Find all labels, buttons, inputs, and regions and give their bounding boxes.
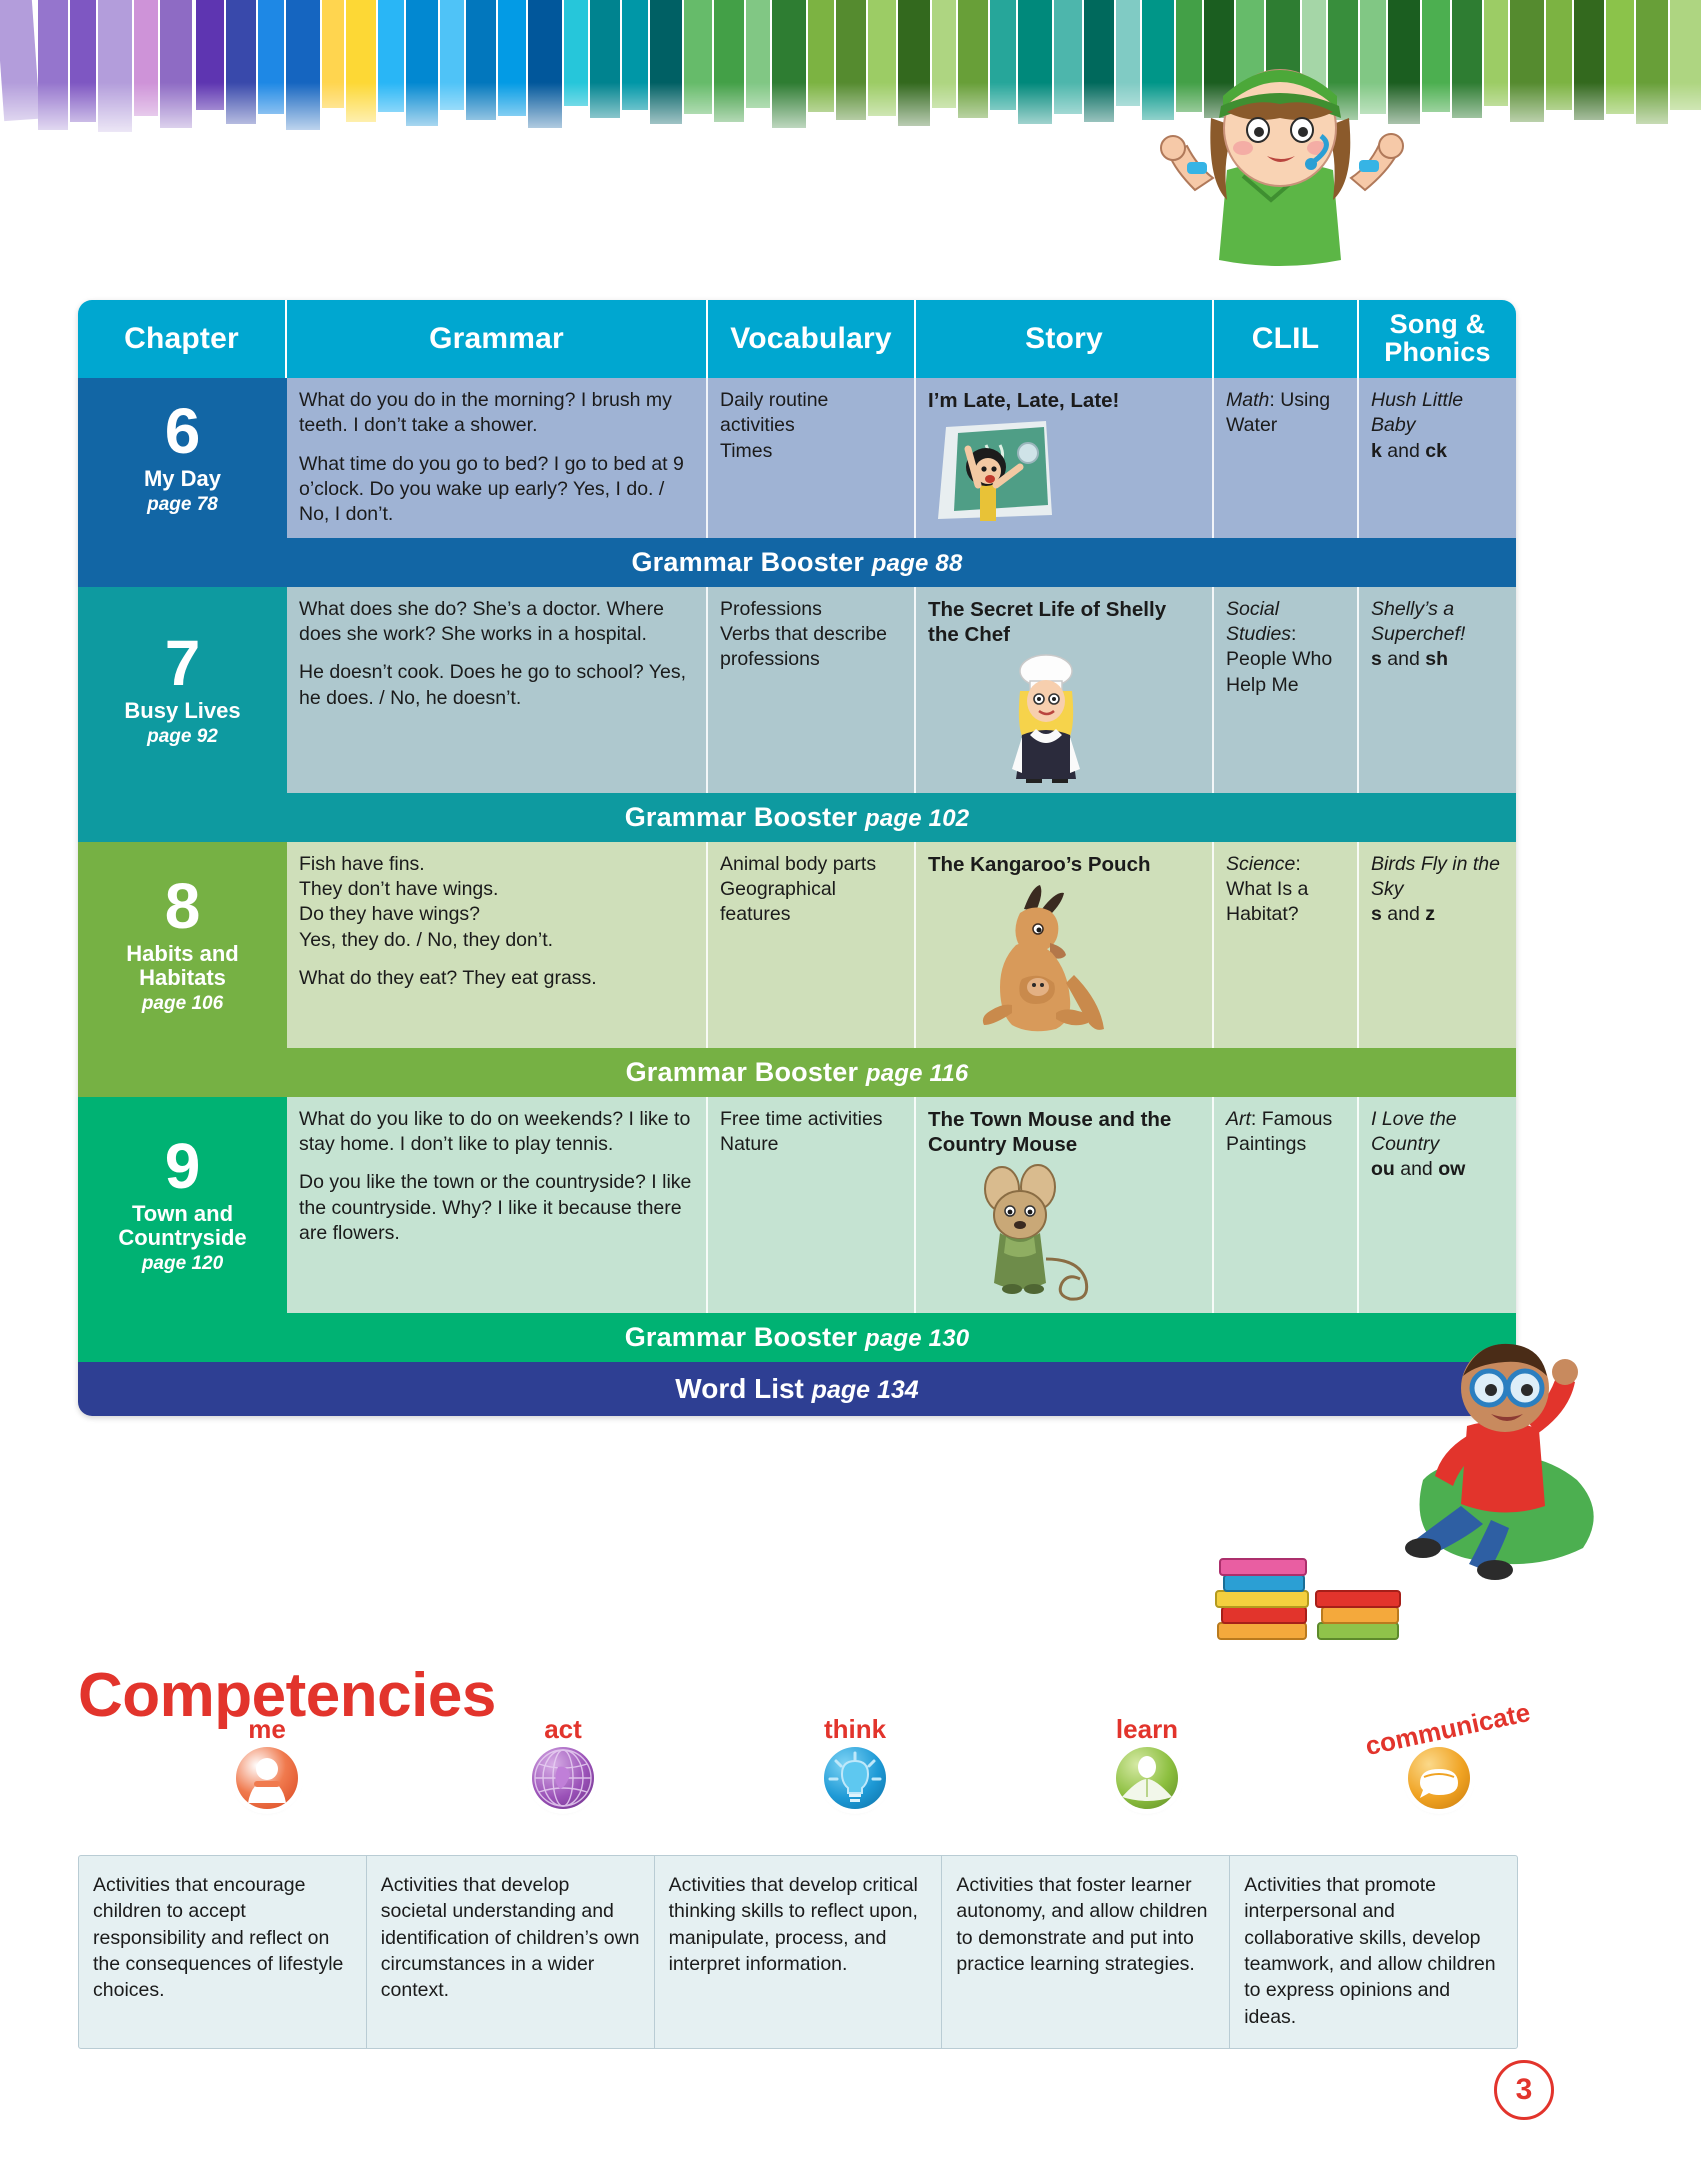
competency-description-boxes: Activities that encourage children to ac… — [78, 1855, 1518, 2049]
word-list-page: page 134 — [812, 1376, 919, 1404]
phonics-line: k and ck — [1371, 439, 1504, 464]
speech-balloon-icon — [1408, 1747, 1470, 1809]
vocabulary-item: Nature — [720, 1132, 902, 1157]
chapter-page: page 120 — [142, 1253, 223, 1275]
chapter-name: Habits and Habitats — [84, 942, 281, 990]
clil-subject: Math — [1226, 389, 1269, 411]
phonics-and: and — [1382, 440, 1425, 462]
story-title: The Town Mouse and the Country Mouse — [928, 1107, 1200, 1157]
globe-icon — [532, 1747, 594, 1809]
phonics-and: and — [1395, 1158, 1438, 1180]
chapter-7-song-phonics: Shelly’s a Superchef! s and sh — [1359, 587, 1516, 793]
phonics-a: ou — [1371, 1158, 1395, 1180]
chapter-8-clil: Science: What Is a Habitat? — [1214, 842, 1359, 1048]
chapter-9-label: 9 Town and Countryside page 120 — [78, 1097, 287, 1313]
chapter-7-story: The Secret Life of Shelly the Chef — [916, 587, 1214, 793]
vocabulary-item: Verbs that describe professions — [720, 622, 902, 673]
book-stack-illustration — [1210, 1545, 1410, 1655]
chapter-6-clil: Math: Using Water — [1214, 378, 1359, 538]
chapter-7-vocabulary: Professions Verbs that describe professi… — [708, 587, 916, 793]
column-header-clil: CLIL — [1214, 300, 1359, 378]
chef-woman-icon — [986, 653, 1106, 783]
competency-label: learn — [1072, 1714, 1222, 1745]
chapter-8-grammar: Fish have fins. They don’t have wings. D… — [287, 842, 708, 1048]
table-header-row: Chapter Grammar Vocabulary Story CLIL So… — [78, 300, 1516, 378]
person-circle-icon — [236, 1747, 298, 1809]
clil-subject: Social Studies — [1226, 598, 1291, 645]
song-title: Birds Fly in the Sky — [1371, 852, 1504, 903]
grammar-paragraph-2: He doesn’t cook. Does he go to school? Y… — [299, 660, 694, 711]
phonics-a: s — [1371, 648, 1382, 670]
page-number: 3 — [1494, 2060, 1554, 2120]
chapter-7-grammar: What does she do? She’s a doctor. Where … — [287, 587, 708, 793]
kangaroo-with-joey-icon — [946, 883, 1131, 1038]
booster-label: Grammar Booster — [626, 1057, 859, 1087]
chapter-7-clil: Social Studies: People Who Help Me — [1214, 587, 1359, 793]
clil-subject: Science — [1226, 853, 1295, 875]
chapter-6-label: 6 My Day page 78 — [78, 378, 287, 538]
chapter-9-clil: Art: Famous Paintings — [1214, 1097, 1359, 1313]
competencies-badges: me act thi — [120, 1700, 1480, 1830]
column-header-vocabulary: Vocabulary — [708, 300, 916, 378]
grammar-booster-bar-9: Grammar Booster page 130 — [78, 1313, 1516, 1362]
shelf-fade — [0, 0, 1701, 150]
chapter-8-story: The Kangaroo’s Pouch — [916, 842, 1214, 1048]
competency-label: think — [780, 1714, 930, 1745]
grammar-line: They don’t have wings. — [299, 878, 498, 900]
table-row-chapter-7: 7 Busy Lives page 92 What does she do? S… — [78, 587, 1516, 793]
competency-description-think: Activities that develop critical thinkin… — [655, 1856, 943, 2048]
song-title: I Love the Country — [1371, 1107, 1504, 1158]
grammar-booster-bar-6: Grammar Booster page 88 — [78, 538, 1516, 587]
column-header-song-phonics: Song & Phonics — [1359, 300, 1516, 378]
phonics-b: sh — [1425, 648, 1448, 670]
booster-page: page 102 — [865, 805, 969, 832]
phonics-line: s and sh — [1371, 647, 1504, 672]
competency-label: me — [192, 1714, 342, 1745]
grammar-line: Yes, they do. / No, they don’t. — [299, 929, 553, 951]
word-list-bar: Word List page 134 — [78, 1362, 1516, 1416]
chapter-page: page 106 — [142, 993, 223, 1015]
phonics-b: z — [1425, 903, 1435, 925]
vocabulary-item: Times — [720, 439, 902, 464]
chapter-9-story: The Town Mouse and the Country Mouse — [916, 1097, 1214, 1313]
chapter-6-grammar: What do you do in the morning? I brush m… — [287, 378, 708, 538]
clil-subject: Art — [1226, 1108, 1251, 1130]
competency-description-communicate: Activities that promote interpersonal an… — [1230, 1856, 1517, 2048]
phonics-a: s — [1371, 903, 1382, 925]
song-title: Hush Little Baby — [1371, 388, 1504, 439]
booster-label: Grammar Booster — [625, 1322, 858, 1352]
boy-at-blackboard-icon — [928, 419, 1058, 524]
competency-badge-act[interactable]: act — [488, 1714, 638, 1809]
competency-badge-learn[interactable]: learn — [1072, 1714, 1222, 1809]
lightbulb-icon — [824, 1747, 886, 1809]
booster-page: page 88 — [872, 550, 963, 577]
grammar-line: Fish have fins. — [299, 853, 425, 875]
competency-description-me: Activities that encourage children to ac… — [79, 1856, 367, 2048]
song-header-line1: Song & — [1384, 311, 1490, 339]
grammar-line: Do they have wings? — [299, 903, 480, 925]
grammar-paragraph-1: What does she do? She’s a doctor. Where … — [299, 597, 694, 648]
chapter-7-label: 7 Busy Lives page 92 — [78, 587, 287, 793]
vocabulary-item: Professions — [720, 597, 902, 622]
grammar-paragraph-1: What do you like to do on weekends? I li… — [299, 1107, 694, 1158]
chapter-6-song-phonics: Hush Little Baby k and ck — [1359, 378, 1516, 538]
vocabulary-item: Free time activities — [720, 1107, 902, 1132]
phonics-a: k — [1371, 440, 1382, 462]
chapter-9-grammar: What do you like to do on weekends? I li… — [287, 1097, 708, 1313]
table-row-chapter-6: 6 My Day page 78 What do you do in the m… — [78, 378, 1516, 538]
story-title: I’m Late, Late, Late! — [928, 388, 1200, 413]
competency-badge-me[interactable]: me — [192, 1714, 342, 1809]
booster-page: page 116 — [866, 1060, 969, 1087]
chapter-6-vocabulary: Daily routine activities Times — [708, 378, 916, 538]
grammar-paragraph-1: What do you do in the morning? I brush m… — [299, 388, 694, 439]
song-header-line2: Phonics — [1384, 339, 1490, 367]
chapter-9-song-phonics: I Love the Country ou and ow — [1359, 1097, 1516, 1313]
boy-character-illustration — [1395, 1330, 1615, 1580]
vocabulary-item: Geographical features — [720, 877, 902, 928]
chapter-name: My Day — [144, 467, 221, 491]
vocabulary-item: Daily routine activities — [720, 388, 902, 439]
vocabulary-item: Animal body parts — [720, 852, 902, 877]
column-header-story: Story — [916, 300, 1214, 378]
chapter-6-story: I’m Late, Late, Late! — [916, 378, 1214, 538]
column-header-grammar: Grammar — [287, 300, 708, 378]
competency-badge-think[interactable]: think — [780, 1714, 930, 1809]
competency-description-act: Activities that develop societal underst… — [367, 1856, 655, 2048]
grammar-paragraph-2: What do they eat? They eat grass. — [299, 966, 694, 991]
word-list-label: Word List — [675, 1373, 804, 1404]
chapter-number: 7 — [165, 631, 201, 695]
chapter-page: page 92 — [147, 726, 218, 748]
grammar-paragraph-1: Fish have fins. They don’t have wings. D… — [299, 852, 694, 953]
phonics-and: and — [1382, 903, 1425, 925]
chapter-8-label: 8 Habits and Habitats page 106 — [78, 842, 287, 1048]
chapter-number: 8 — [165, 874, 201, 938]
column-header-chapter: Chapter — [78, 300, 287, 378]
table-row-chapter-9: 9 Town and Countryside page 120 What do … — [78, 1097, 1516, 1313]
grammar-booster-bar-8: Grammar Booster page 116 — [78, 1048, 1516, 1097]
booster-label: Grammar Booster — [631, 547, 864, 577]
chapter-page: page 78 — [147, 494, 218, 516]
chapter-9-vocabulary: Free time activities Nature — [708, 1097, 916, 1313]
phonics-line: ou and ow — [1371, 1157, 1504, 1182]
phonics-line: s and z — [1371, 902, 1504, 927]
chapter-8-song-phonics: Birds Fly in the Sky s and z — [1359, 842, 1516, 1048]
table-row-chapter-8: 8 Habits and Habitats page 106 Fish have… — [78, 842, 1516, 1048]
phonics-b: ow — [1438, 1158, 1465, 1180]
chapter-number: 6 — [165, 399, 201, 463]
bookshelf-decoration — [0, 0, 1701, 150]
competency-badge-communicate[interactable]: communicate — [1364, 1714, 1514, 1809]
story-title: The Secret Life of Shelly the Chef — [928, 597, 1200, 647]
story-title: The Kangaroo’s Pouch — [928, 852, 1200, 877]
mouse-icon — [960, 1163, 1110, 1303]
competency-label: act — [488, 1714, 638, 1745]
girl-character-illustration — [1135, 50, 1425, 280]
booster-label: Grammar Booster — [625, 802, 858, 832]
grammar-paragraph-2: What time do you go to bed? I go to bed … — [299, 452, 694, 528]
phonics-and: and — [1382, 648, 1425, 670]
booster-page: page 130 — [865, 1325, 969, 1352]
grammar-paragraph-2: Do you like the town or the countryside?… — [299, 1170, 694, 1246]
open-book-icon — [1116, 1747, 1178, 1809]
song-title: Shelly’s a Superchef! — [1371, 597, 1504, 648]
chapter-number: 9 — [165, 1134, 201, 1198]
chapter-name: Town and Countryside — [84, 1202, 281, 1250]
chapter-8-vocabulary: Animal body parts Geographical features — [708, 842, 916, 1048]
grammar-booster-bar-7: Grammar Booster page 102 — [78, 793, 1516, 842]
phonics-b: ck — [1425, 440, 1447, 462]
chapter-name: Busy Lives — [124, 699, 240, 723]
table-of-contents: Chapter Grammar Vocabulary Story CLIL So… — [78, 300, 1516, 1416]
competency-description-learn: Activities that foster learner autonomy,… — [942, 1856, 1230, 2048]
